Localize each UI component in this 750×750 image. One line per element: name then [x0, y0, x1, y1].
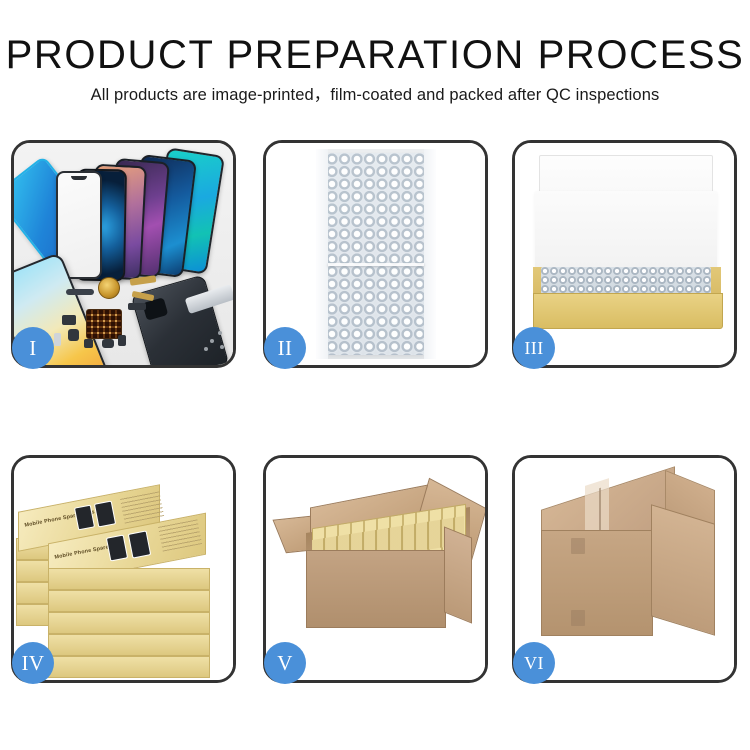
carton-tab-graphic: [571, 538, 585, 554]
step-panel-6: VI: [512, 455, 737, 683]
small-part-graphic: [84, 339, 93, 348]
step-panel-2: II: [263, 140, 488, 368]
box-edge-graphic: [48, 656, 210, 678]
copper-coil-graphic: [98, 277, 120, 299]
product-preparation-infographic: PRODUCT PREPARATION PROCESS All products…: [0, 0, 750, 750]
screw-graphic: [220, 345, 224, 349]
carton-front-graphic: [306, 550, 446, 628]
notch-graphic: [71, 176, 87, 180]
stacked-boxes-graphic: Mobile Phone Spare Parts Mobile Phone Sp…: [14, 472, 233, 672]
step-panel-3: III: [512, 140, 737, 368]
connector-strip-graphic: [66, 289, 94, 295]
step-badge-1: I: [12, 327, 54, 369]
small-part-graphic: [128, 303, 146, 310]
box-front-graphic: [533, 293, 723, 329]
small-part-graphic: [68, 329, 79, 341]
small-part-graphic: [102, 339, 114, 348]
carton-side-graphic: [444, 526, 472, 623]
box-edge-graphic: [48, 590, 210, 612]
bag-edge-graphic: [316, 149, 328, 359]
bubble-wrap-graphic: [326, 153, 426, 355]
carton-tab-graphic: [571, 610, 585, 626]
carton-side-graphic: [651, 504, 715, 636]
screw-graphic: [218, 331, 222, 335]
bag-seam-graphic: [328, 263, 424, 266]
chip-array-graphic: [86, 309, 122, 339]
step-panel-1: I: [11, 140, 236, 368]
small-part-graphic: [54, 333, 61, 346]
step-panel-4: Mobile Phone Spare Parts Mobile Phone Sp…: [11, 455, 236, 683]
box-edge-graphic: [48, 612, 210, 634]
step-badge-2: II: [264, 327, 306, 369]
step-badge-4: IV: [12, 642, 54, 684]
step-badge-5: V: [264, 642, 306, 684]
box-edge-graphic: [48, 634, 210, 656]
box-edge-graphic: [48, 568, 210, 590]
small-part-graphic: [118, 335, 126, 346]
step-badge-3: III: [513, 327, 555, 369]
bag-edge-graphic: [424, 149, 436, 359]
screw-graphic: [210, 339, 214, 343]
foam-sheet-graphic: [535, 191, 717, 269]
screw-graphic: [204, 347, 208, 351]
steps-grid: I II: [0, 0, 750, 750]
small-part-graphic: [62, 315, 76, 325]
step-panel-5: V: [263, 455, 488, 683]
carton-front-graphic: [541, 530, 653, 636]
step-badge-6: VI: [513, 642, 555, 684]
